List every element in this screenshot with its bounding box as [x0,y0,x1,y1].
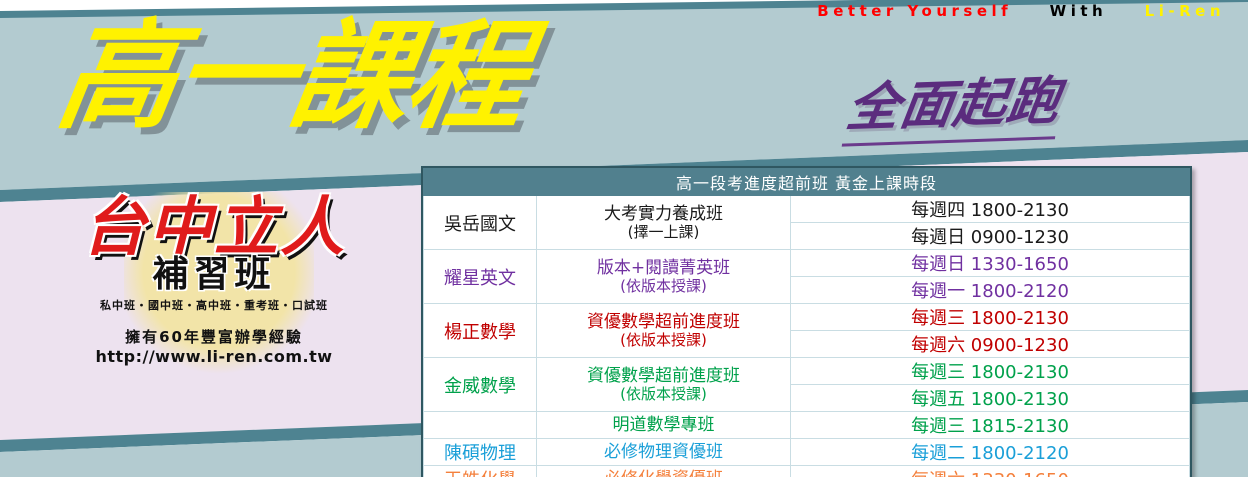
course-name: 大考實力養成班 [537,204,790,224]
teacher-cell: 王皓化學 [424,466,537,477]
teacher-cell: 耀星英文 [424,250,537,304]
table-row: 金威數學資優數學超前進度班(依版本授課)每週三 1800-2130 [424,358,1190,385]
course-cell: 版本+閱讀菁英班(依版本授課) [537,250,791,304]
table-header-row: 高一段考進度超前班 黃金上課時段 [424,169,1190,196]
tagline-part-1: Better Yourself [816,2,1013,20]
table-row: 王皓化學必修化學資優班每週六 1330-1650 [424,466,1190,477]
course-name: 明道數學專班 [537,415,790,435]
course-cell: 必修化學資優班 [537,466,791,477]
table-row: 吳岳國文大考實力養成班(擇一上課)每週四 1800-2130 [424,196,1190,223]
course-name: 版本+閱讀菁英班 [537,258,790,278]
time-cell: 每週日 0900-1230 [791,223,1190,250]
schedule-body: 吳岳國文大考實力養成班(擇一上課)每週四 1800-2130每週日 0900-1… [424,196,1190,477]
teacher-cell: 楊正數學 [424,304,537,358]
course-note: (依版本授課) [537,386,790,404]
table-row: 楊正數學資優數學超前進度班(依版本授課)每週三 1800-2130 [424,304,1190,331]
teacher-cell [424,412,537,439]
teacher-cell: 金威數學 [424,358,537,412]
teacher-cell: 陳碩物理 [424,439,537,466]
schedule-header-title: 高一段考進度超前班 黃金上課時段 [424,169,1190,196]
course-name: 資優數學超前進度班 [537,312,790,332]
tagline-part-3: Li-Ren [1144,2,1226,20]
course-cell: 大考實力養成班(擇一上課) [537,196,791,250]
course-cell: 資優數學超前進度班(依版本授課) [537,358,791,412]
time-cell: 每週三 1800-2130 [791,358,1190,385]
teacher-cell: 吳岳國文 [424,196,537,250]
course-name: 必修化學資優班 [537,469,790,477]
page-subtitle: 全面起跑 [842,58,1067,146]
poster-canvas: Better Yourself With Li-Ren 高一課程 全面起跑 台中… [0,0,1248,477]
course-note: (依版本授課) [537,278,790,296]
time-cell: 每週六 0900-1230 [791,331,1190,358]
course-cell: 必修物理資優班 [537,439,791,466]
logo-name: 台中立人 [28,196,400,260]
table-row: 明道數學專班每週三 1815-2130 [424,412,1190,439]
time-cell: 每週一 1800-2120 [791,277,1190,304]
course-cell: 明道數學專班 [537,412,791,439]
table-row: 陳碩物理必修物理資優班每週二 1800-2120 [424,439,1190,466]
course-note: (依版本授課) [537,332,790,350]
time-cell: 每週六 1330-1650 [791,466,1190,477]
tagline: Better Yourself With Li-Ren [0,2,1248,26]
table-row: 耀星英文版本+閱讀菁英班(依版本授課)每週日 1330-1650 [424,250,1190,277]
time-cell: 每週二 1800-2120 [791,439,1190,466]
time-cell: 每週日 1330-1650 [791,250,1190,277]
course-name: 資優數學超前進度班 [537,366,790,386]
schedule-table: 高一段考進度超前班 黃金上課時段 吳岳國文大考實力養成班(擇一上課)每週四 18… [423,168,1190,477]
schedule-panel: 高一段考進度超前班 黃金上課時段 吳岳國文大考實力養成班(擇一上課)每週四 18… [421,166,1192,477]
tagline-part-2: With [1049,2,1109,20]
logo-website-url[interactable]: http://www.li-ren.com.tw [28,347,400,368]
brand-logo: 台中立人 補習班 私中班・國中班・高中班・重考班・口試班 擁有60年豐富辦學經驗… [28,196,400,368]
course-note: (擇一上課) [537,224,790,242]
course-name: 必修物理資優班 [537,442,790,462]
course-cell: 資優數學超前進度班(依版本授課) [537,304,791,358]
time-cell: 每週四 1800-2130 [791,196,1190,223]
time-cell: 每週三 1800-2130 [791,304,1190,331]
time-cell: 每週五 1800-2130 [791,385,1190,412]
logo-experience: 擁有60年豐富辦學經驗 [28,327,400,347]
time-cell: 每週三 1815-2130 [791,412,1190,439]
page-title: 高一課程 [50,12,534,139]
logo-class-list: 私中班・國中班・高中班・重考班・口試班 [28,297,400,313]
